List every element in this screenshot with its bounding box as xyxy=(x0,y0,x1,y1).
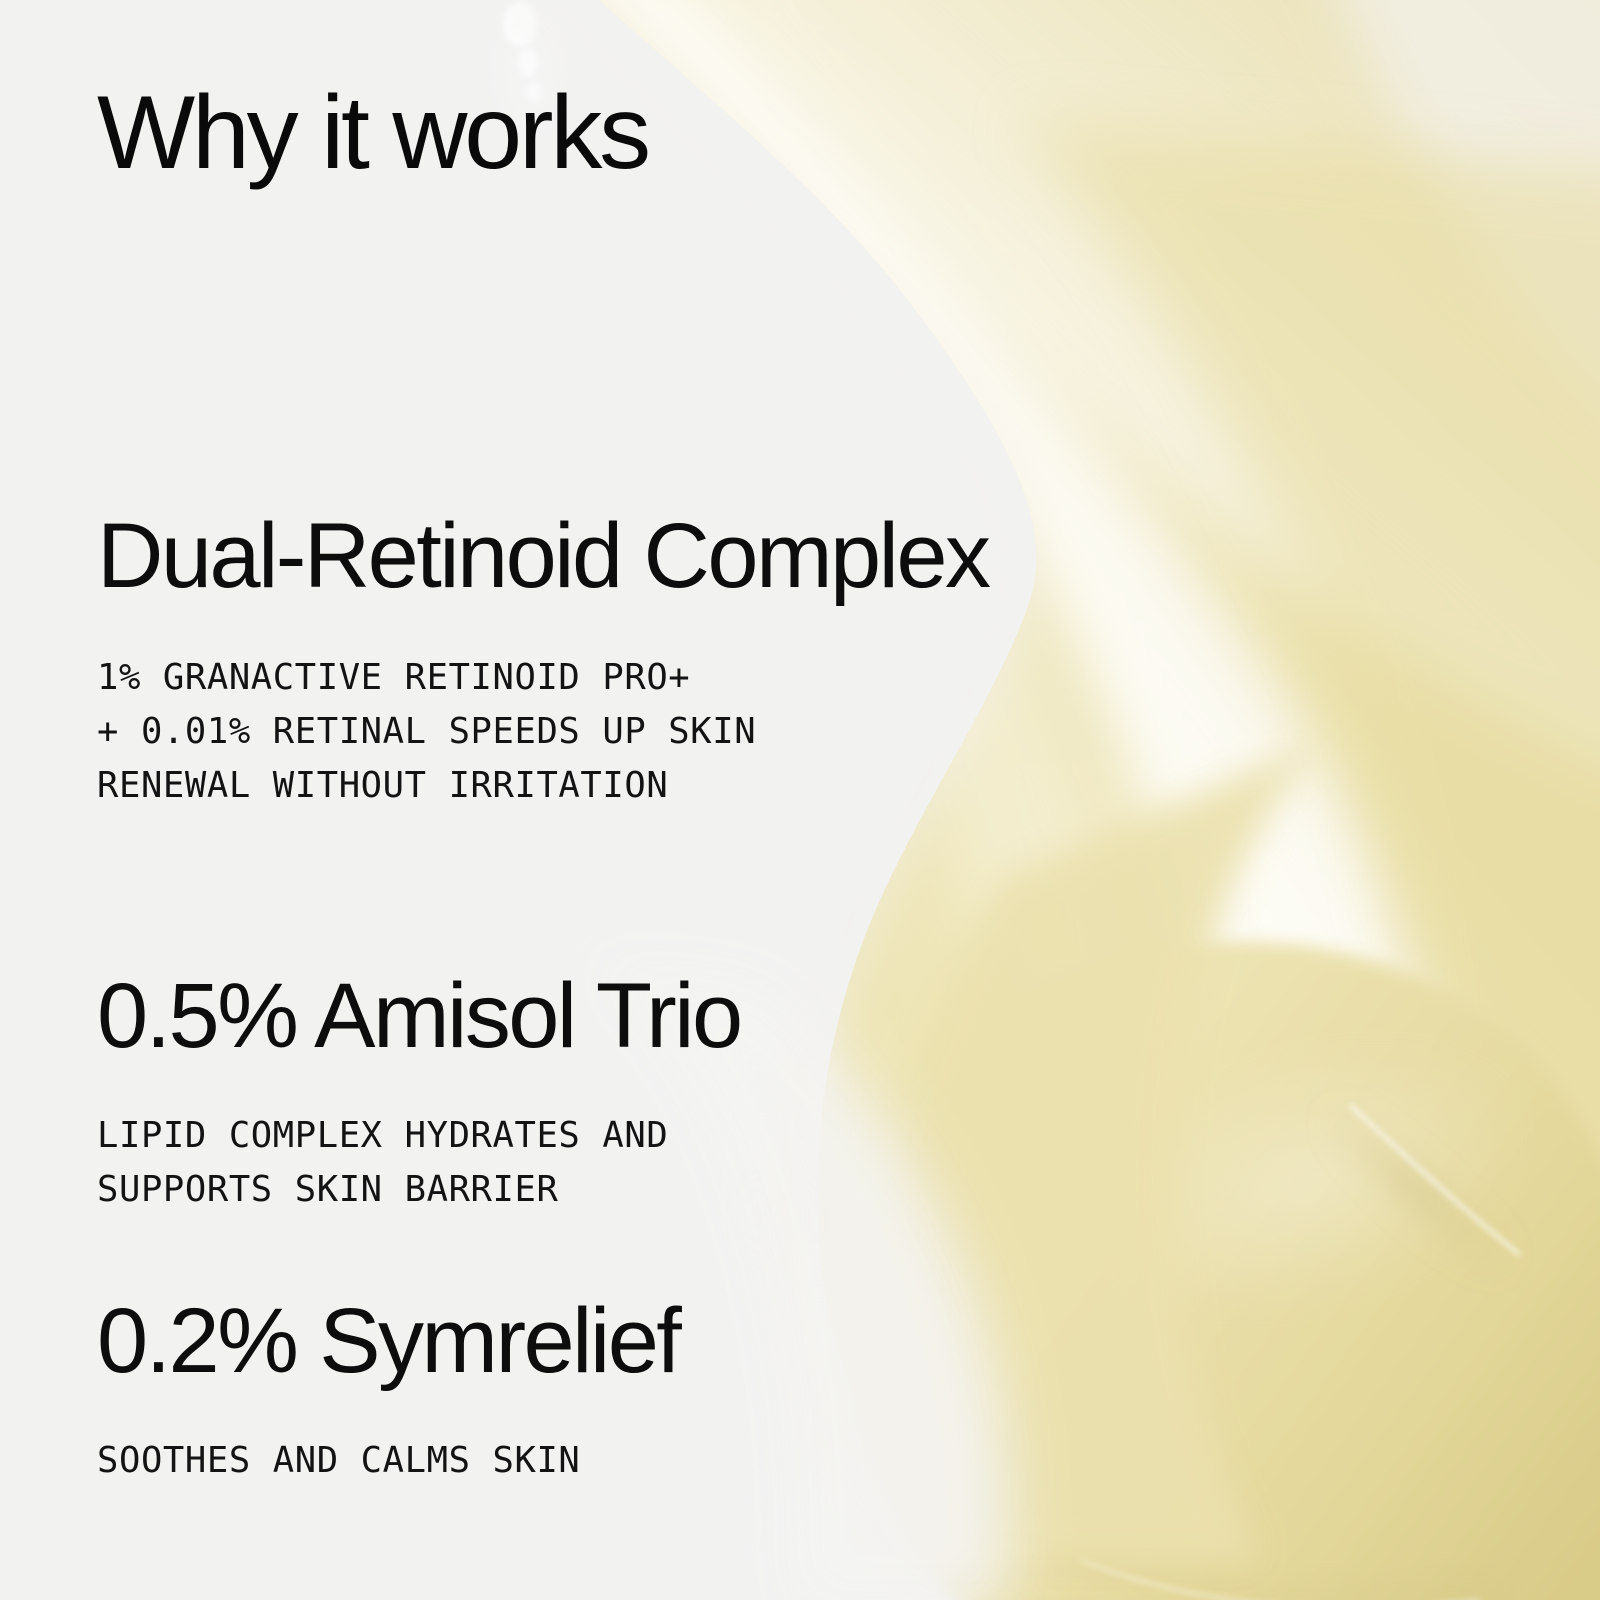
content-layer: Why it works Dual-Retinoid Complex 1% GR… xyxy=(0,0,1600,1600)
benefit-description: SOOTHES AND CALMS SKIN xyxy=(97,1434,679,1488)
product-benefits-card: Why it works Dual-Retinoid Complex 1% GR… xyxy=(0,0,1600,1600)
benefit-description: 1% GRANACTIVE RETINOID PRO+ + 0.01% RETI… xyxy=(97,651,988,813)
page-title: Why it works xyxy=(97,78,648,188)
benefit-description: LIPID COMPLEX HYDRATES AND SUPPORTS SKIN… xyxy=(97,1109,741,1217)
benefit-item-amisol-trio: 0.5% Amisol Trio LIPID COMPLEX HYDRATES … xyxy=(97,965,741,1217)
benefit-heading: Dual-Retinoid Complex xyxy=(97,505,988,607)
benefit-item-dual-retinoid-complex: Dual-Retinoid Complex 1% GRANACTIVE RETI… xyxy=(97,505,988,813)
benefit-heading: 0.5% Amisol Trio xyxy=(97,965,741,1067)
benefit-item-symrelief: 0.2% Symrelief SOOTHES AND CALMS SKIN xyxy=(97,1290,679,1488)
benefit-heading: 0.2% Symrelief xyxy=(97,1290,679,1392)
